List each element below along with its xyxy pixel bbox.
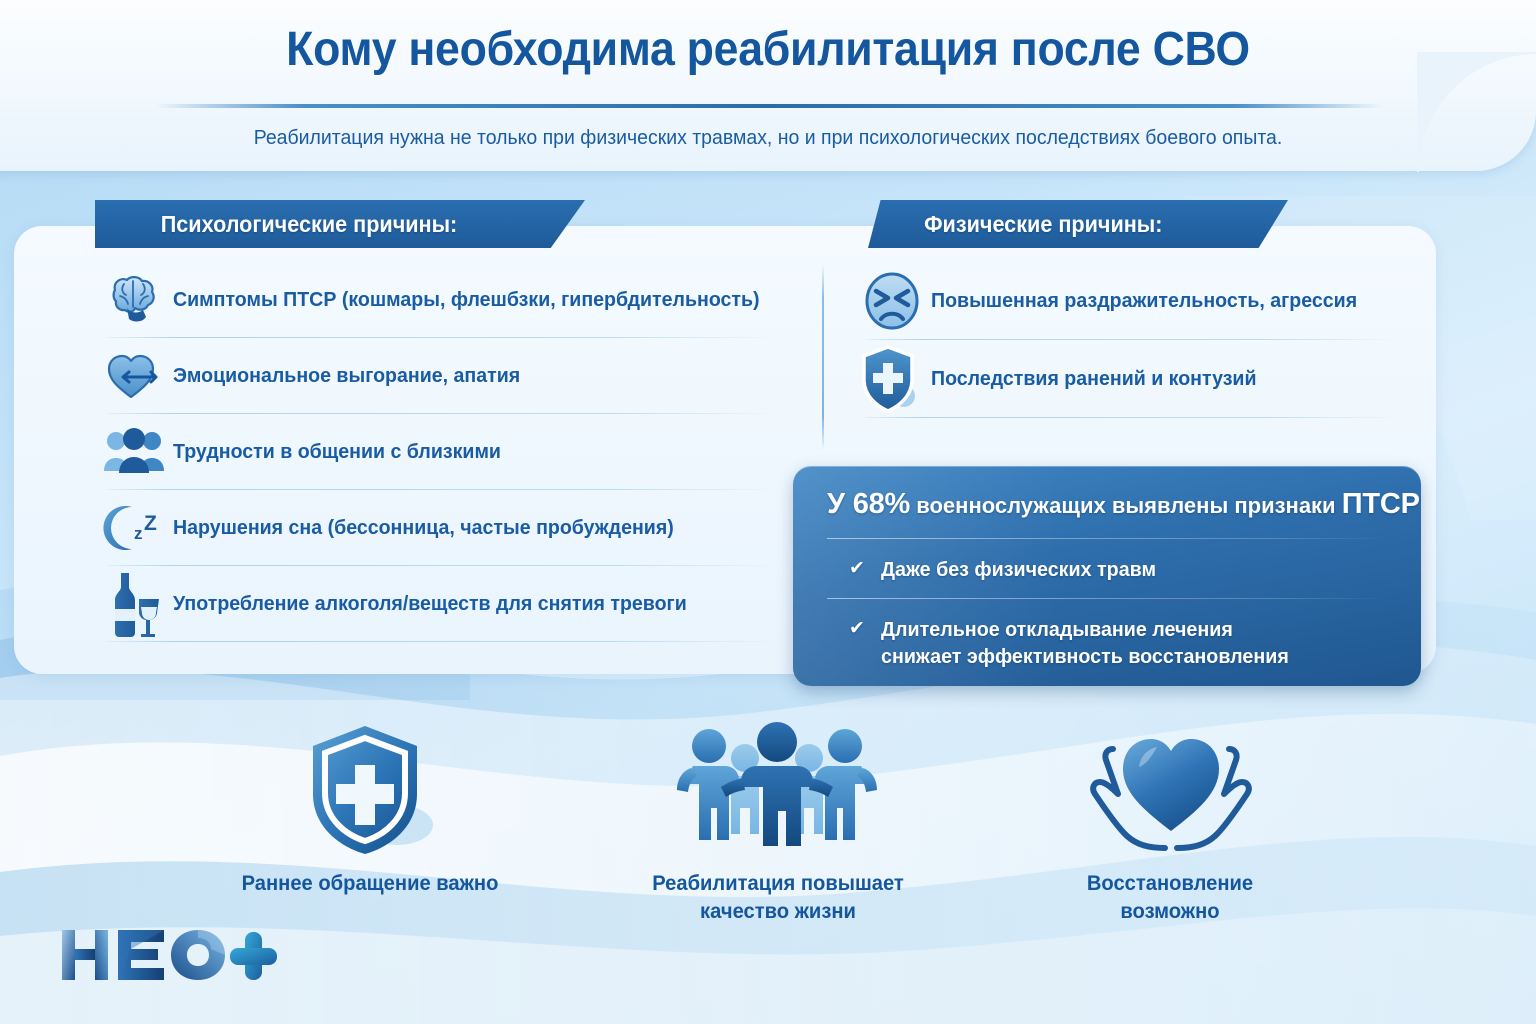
- list-item-label: Трудности в общении с близкими: [173, 440, 501, 464]
- row-divider: [865, 417, 1399, 418]
- list-item-label: Эмоциональное выгорание, апатия: [173, 364, 520, 388]
- header-text-area: Кому необходима реабилитация после СВО Р…: [0, 0, 1536, 190]
- bottle-glass-icon: [95, 569, 173, 639]
- shield-cross-icon: [853, 344, 931, 414]
- statistics-headline: У 68% военнослужащих выявлены признаки П…: [827, 488, 1397, 521]
- physical-causes-heading: Физические причины:: [868, 200, 1288, 248]
- psychological-heading-label: Психологические причины:: [106, 211, 457, 238]
- benefit-label: Восстановление возможно: [1007, 870, 1333, 926]
- hands-heart-icon: [1000, 718, 1340, 856]
- physical-causes-list: Повышенная раздражительность, агрессия П…: [853, 262, 1413, 418]
- moon-sleep-icon: z Z: [95, 501, 173, 555]
- statistics-percent: У 68%: [827, 488, 910, 520]
- shield-cross-icon: [200, 718, 540, 856]
- row-divider: [107, 641, 781, 642]
- angry-face-icon: [853, 269, 931, 333]
- page-subtitle: Реабилитация нужна не только при физичес…: [38, 126, 1497, 150]
- svg-text:z: z: [134, 524, 143, 543]
- statistics-card: У 68% военнослужащих выявлены признаки П…: [793, 466, 1421, 686]
- psychological-causes-heading: Психологические причины:: [95, 200, 585, 248]
- column-divider: [822, 264, 824, 450]
- benefit-quality-of-life: Реабилитация повышает качество жизни: [608, 718, 948, 926]
- list-item-label: Употребление алкоголя/веществ для снятия…: [173, 592, 687, 616]
- people-support-icon: [608, 718, 948, 856]
- list-item: Трудности в общении с близкими: [95, 414, 795, 490]
- logo-neo-plus[interactable]: [58, 922, 288, 988]
- list-item: Употребление алкоголя/веществ для снятия…: [95, 566, 795, 642]
- page-title: Кому необходима реабилитация после СВО: [54, 22, 1482, 77]
- check-icon: ✔: [849, 616, 865, 642]
- list-item-label: Нарушения сна (бессонница, частые пробуж…: [173, 516, 674, 540]
- list-item: Эмоциональное выгорание, апатия: [95, 338, 795, 414]
- title-divider: [155, 104, 1383, 108]
- statistics-divider: [827, 598, 1387, 599]
- statistics-bullet-label: Даже без физических травм: [881, 556, 1156, 583]
- list-item: Симптомы ПТСР (кошмары, флешбзки, гиперб…: [95, 262, 795, 338]
- list-item-label: Последствия ранений и контузий: [931, 367, 1257, 391]
- heart-drain-icon: [95, 349, 173, 403]
- psychological-causes-list: Симптомы ПТСР (кошмары, флешбзки, гиперб…: [95, 262, 795, 642]
- list-item: Повышенная раздражительность, агрессия: [853, 262, 1413, 340]
- list-item: Последствия ранений и контузий: [853, 340, 1413, 418]
- statistics-headline-middle: военнослужащих выявлены признаки: [910, 493, 1342, 518]
- infographic-canvas: Кому необходима реабилитация после СВО Р…: [0, 0, 1536, 1024]
- svg-text:Z: Z: [144, 512, 157, 535]
- benefit-label: Раннее обращение важно: [207, 870, 533, 898]
- benefit-recovery-possible: Восстановление возможно: [1000, 718, 1340, 926]
- statistics-bullet: ✔ Длительное откладывание лечения снижае…: [849, 616, 1306, 670]
- statistics-bullet-label: Длительное откладывание лечения снижает …: [881, 616, 1289, 670]
- check-icon: ✔: [849, 556, 865, 582]
- statistics-divider: [827, 538, 1387, 539]
- list-item: z Z Нарушения сна (бессонница, частые пр…: [95, 490, 795, 566]
- statistics-bullet: ✔ Даже без физических травм: [849, 556, 1167, 583]
- statistics-headline-suffix: ПТСР: [1342, 488, 1420, 520]
- physical-heading-label: Физические причины:: [877, 211, 1162, 238]
- list-item-label: Симптомы ПТСР (кошмары, флешбзки, гиперб…: [173, 288, 760, 312]
- benefit-early-help: Раннее обращение важно: [200, 718, 540, 898]
- people-group-icon: [95, 427, 173, 477]
- benefit-label: Реабилитация повышает качество жизни: [615, 870, 941, 926]
- list-item-label: Повышенная раздражительность, агрессия: [931, 289, 1357, 313]
- brain-icon: [95, 274, 173, 326]
